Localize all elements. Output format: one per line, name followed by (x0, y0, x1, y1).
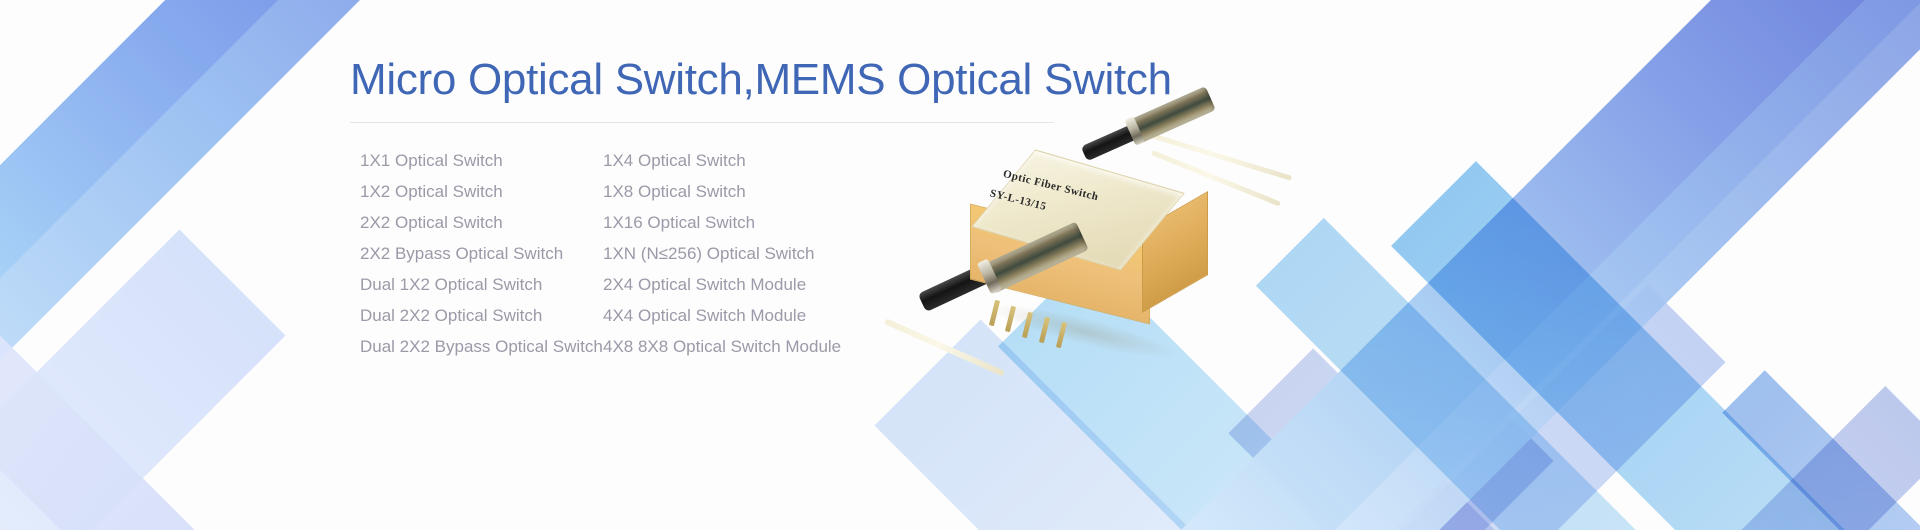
category-column-right: 1X4 Optical Switch 1X8 Optical Switch 1X… (603, 145, 1003, 362)
list-item[interactable]: 1X1 Optical Switch (360, 145, 603, 176)
category-column-left: 1X1 Optical Switch 1X2 Optical Switch 2X… (350, 145, 603, 362)
diagonal-band-right-5 (1722, 370, 1920, 530)
list-item[interactable]: 1X16 Optical Switch (603, 207, 1003, 238)
list-item[interactable]: 4X4 Optical Switch Module (603, 300, 1003, 331)
list-item[interactable]: Dual 1X2 Optical Switch (360, 269, 603, 300)
diagonal-band-mid-4 (1228, 348, 1751, 530)
diagonal-band-right-4 (1256, 218, 1920, 530)
diagonal-band-right-2 (1317, 0, 1920, 530)
list-item[interactable]: 1XN (N≤256) Optical Switch (603, 238, 1003, 269)
category-lists: 1X1 Optical Switch 1X2 Optical Switch 2X… (350, 145, 1110, 362)
diagonal-band-right-3 (1391, 161, 1920, 530)
list-item[interactable]: Dual 2X2 Optical Switch (360, 300, 603, 331)
list-item[interactable]: 1X8 Optical Switch (603, 176, 1003, 207)
diagonal-band-left-3 (0, 229, 286, 530)
list-item[interactable]: Dual 2X2 Bypass Optical Switch (360, 331, 603, 362)
list-item[interactable]: 2X2 Optical Switch (360, 207, 603, 238)
diagonal-band-mid-5 (1461, 386, 1920, 530)
product-category-banner: Optic Fiber Switch SY-L-13/15 Micro Opti… (0, 0, 1920, 530)
list-item[interactable]: 1X2 Optical Switch (360, 176, 603, 207)
list-item[interactable]: 1X4 Optical Switch (603, 145, 1003, 176)
list-item[interactable]: 2X2 Bypass Optical Switch (360, 238, 603, 269)
list-item[interactable]: 4X8 8X8 Optical Switch Module (603, 331, 1003, 362)
banner-content: Micro Optical Switch,MEMS Optical Switch… (350, 56, 1110, 362)
title-divider (350, 122, 1054, 123)
page-title: Micro Optical Switch,MEMS Optical Switch (350, 56, 1110, 104)
list-item[interactable]: 2X4 Optical Switch Module (603, 269, 1003, 300)
